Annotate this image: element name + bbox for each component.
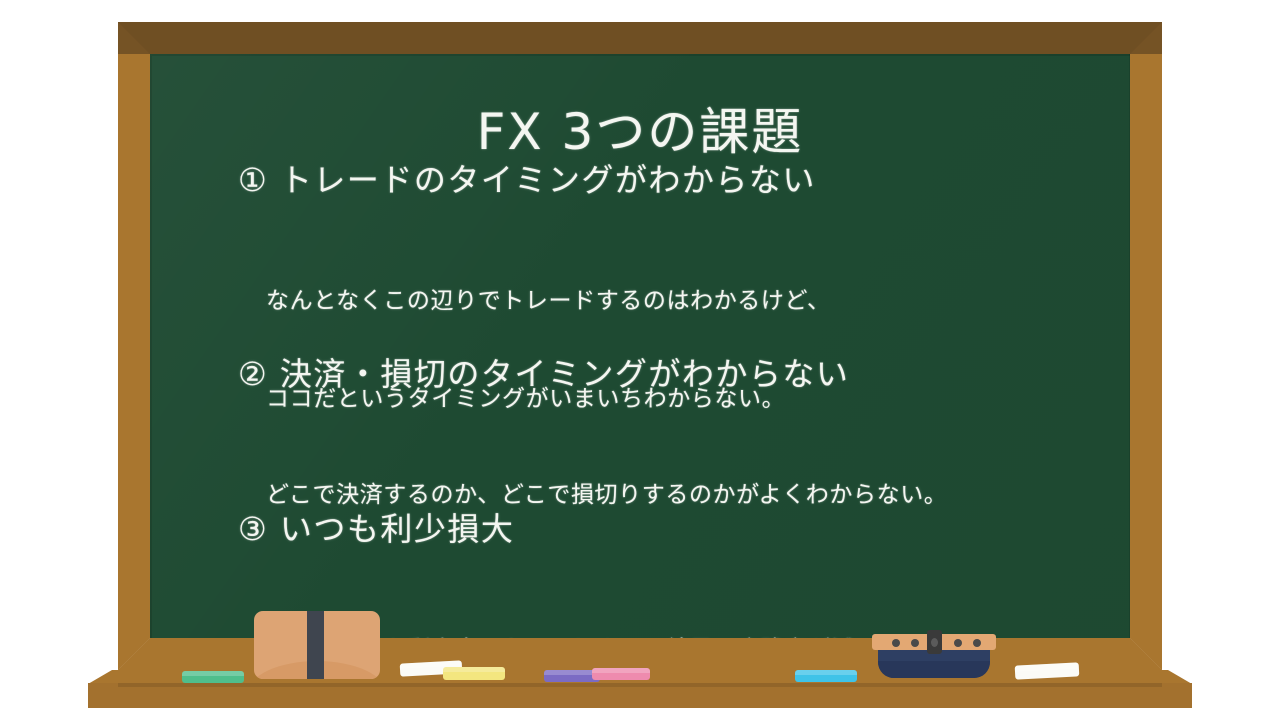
bag-stud-1	[892, 639, 900, 647]
blackboard-eraser[interactable]	[254, 611, 380, 679]
challenge-1-heading: ① トレードのタイミングがわからない	[238, 160, 831, 200]
frame-top-rail	[118, 22, 1162, 54]
bag-buckle-hole	[931, 638, 938, 647]
board-title: FX 3つの課題	[150, 92, 1130, 164]
challenge-2-heading: ② 決済・損切のタイミングがわからない	[238, 354, 947, 394]
green-chalk-highlight	[182, 671, 244, 676]
challenge-1-body-line-1: なんとなくこの辺りでトレードするのはわかるけど、	[266, 285, 831, 318]
yellow-chalk-highlight	[443, 667, 505, 672]
blackboard-surface: FX 3つの課題 ① トレードのタイミングがわからない なんとなくこの辺りでトレ…	[150, 54, 1130, 638]
challenge-3-heading: ③ いつも利少損大	[238, 509, 972, 549]
challenge-2-body-line-1: どこで決済するのか、どこで損切りするのかがよくわからない。	[266, 479, 947, 512]
pink-chalk[interactable]	[592, 668, 650, 680]
yellow-chalk[interactable]	[443, 667, 505, 680]
frame-top-bevel	[118, 22, 1162, 54]
frame-right-rail	[1130, 22, 1162, 670]
chalk-tray-body	[88, 683, 1192, 708]
blackboard-frame: FX 3つの課題 ① トレードのタイミングがわからない なんとなくこの辺りでトレ…	[118, 22, 1162, 670]
bag-body-shadow	[878, 661, 990, 678]
bag-stud-4	[973, 639, 981, 647]
cyan-chalk-highlight	[795, 670, 857, 675]
green-chalk[interactable]	[182, 671, 244, 683]
cyan-chalk[interactable]	[795, 670, 857, 682]
bag-stud-2	[911, 639, 919, 647]
frame-left-rail	[118, 22, 150, 670]
pink-chalk-highlight	[592, 668, 650, 673]
tray-bag[interactable]	[872, 628, 996, 678]
slide-canvas: FX 3つの課題 ① トレードのタイミングがわからない なんとなくこの辺りでトレ…	[0, 0, 1280, 720]
bag-stud-3	[954, 639, 962, 647]
chalk-tray-shadow	[118, 683, 1162, 687]
eraser-band	[307, 611, 324, 679]
